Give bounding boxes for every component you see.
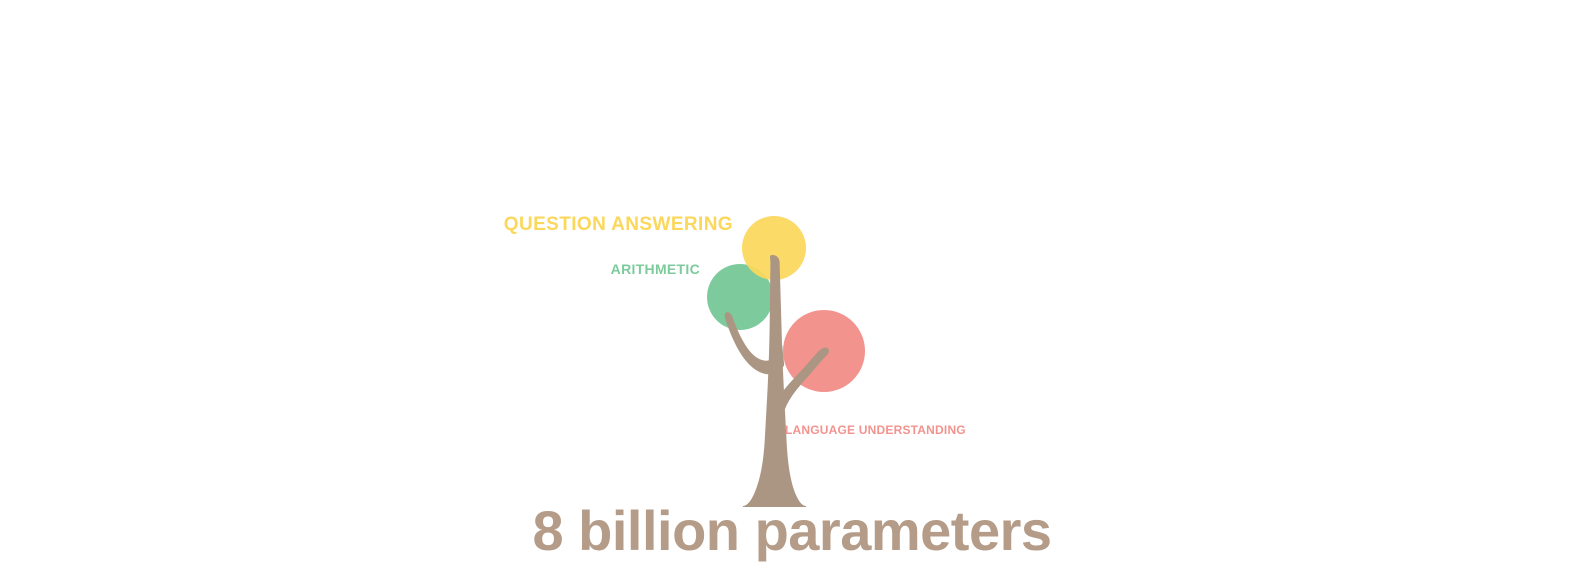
label-question-answering: QUESTION ANSWERING [504, 215, 733, 234]
page-title-text: 8 billion parameters [532, 499, 1051, 562]
tree-illustration [0, 0, 1580, 575]
label-arithmetic: ARITHMETIC [611, 262, 700, 276]
label-language-understanding: LANGUAGE UNDERSTANDING [785, 424, 966, 436]
infographic-canvas: QUESTION ANSWERING ARITHMETIC LANGUAGE U… [0, 0, 1580, 575]
page-title: 8 billion parameters [0, 503, 1580, 559]
